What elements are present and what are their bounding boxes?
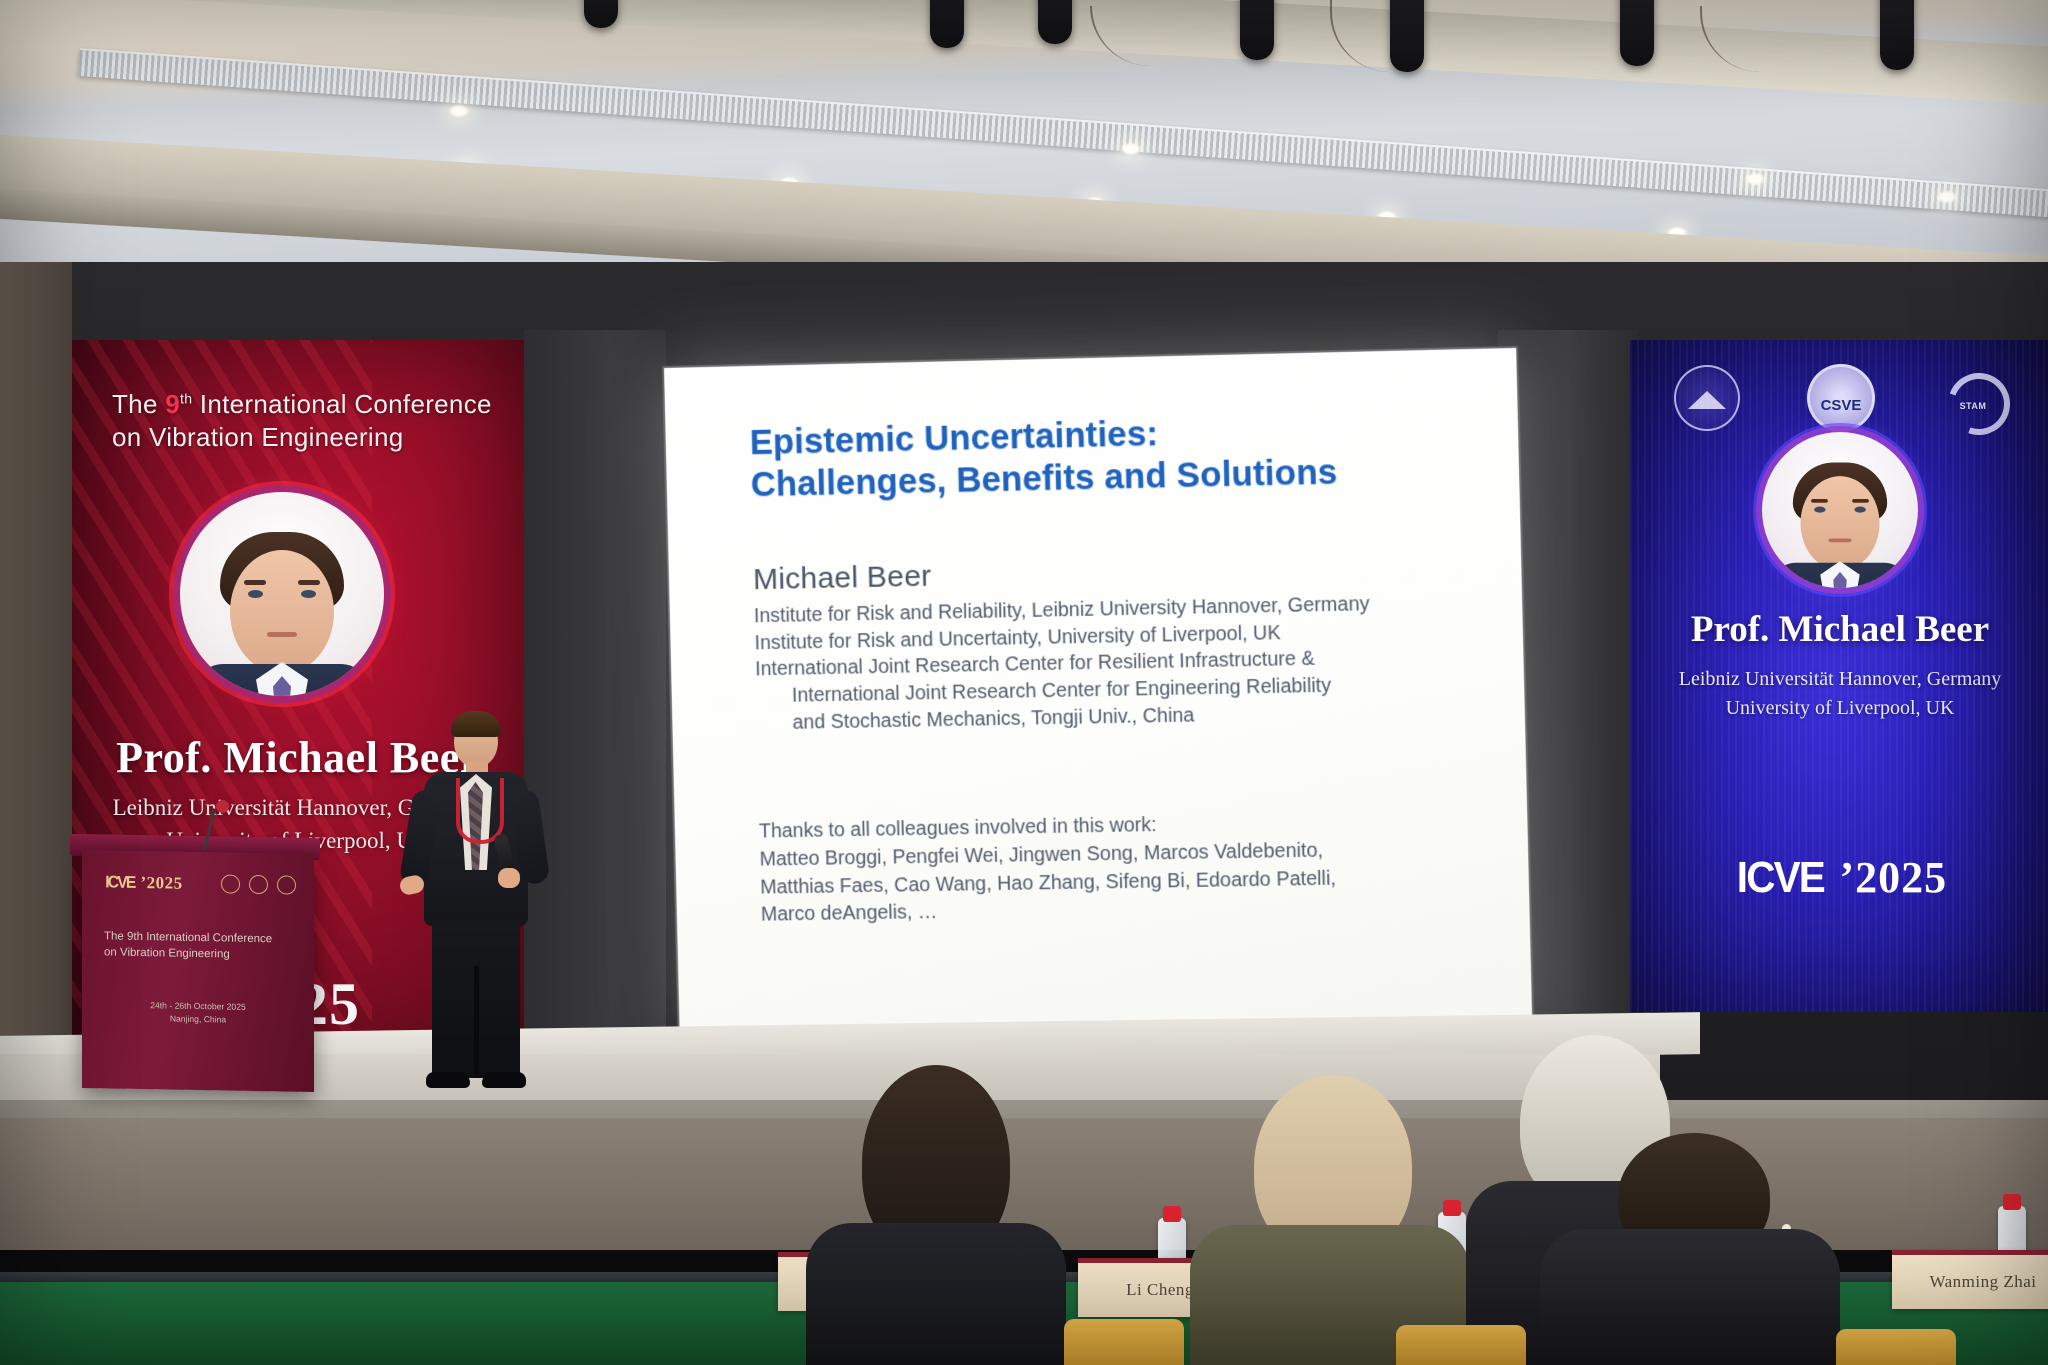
- circle-logo-3-icon: [277, 875, 296, 894]
- hanging-speaker: [930, 0, 964, 48]
- ordinal-suffix: th: [180, 390, 192, 406]
- name-card-right: Wanming Zhai: [1892, 1250, 2048, 1309]
- conference-photo-scene: The 9th International Conference on Vibr…: [0, 0, 2048, 1365]
- university-seal-logo: [1674, 365, 1740, 431]
- speaker-right-hand: [498, 868, 520, 888]
- speaker-shoe-right: [482, 1072, 526, 1088]
- attendee-shoulders: [806, 1223, 1066, 1365]
- right-blue-banner: CSVE STAM Prof. Michael Beer Leibniz Uni…: [1630, 340, 2048, 1012]
- right-banner-affiliation: Leibniz Universität Hannover, Germany Un…: [1630, 665, 2048, 723]
- chair-back: [1836, 1329, 1956, 1365]
- circle-logo-1-icon: [221, 874, 240, 893]
- thanks-line-3: Marco deAngelis, …: [761, 901, 938, 926]
- recessed-downlight: [448, 104, 470, 118]
- speaker-shoe-left: [426, 1072, 470, 1088]
- thanks-line-1: Matteo Broggi, Pengfei Wei, Jingwen Song…: [759, 839, 1323, 870]
- icve-wordmark: ICVE: [105, 872, 134, 893]
- attendee-front-right: [1540, 1133, 1840, 1365]
- attendee-shoulders: [1540, 1229, 1840, 1365]
- podium-conference-name: The 9th International Conference on Vibr…: [104, 928, 294, 964]
- speaker-lanyard: [456, 778, 504, 844]
- attendee-dark-hair: [806, 1065, 1066, 1365]
- podium-date-location: 24th - 26th October 2025 Nanjing, China: [82, 998, 314, 1028]
- recessed-downlight: [1120, 142, 1142, 156]
- sponsor-logo-row: CSVE STAM: [1674, 362, 2004, 434]
- attendee-bald: [1190, 1075, 1470, 1365]
- icve-year: ’2025: [140, 873, 182, 893]
- slide-affiliations: Institute for Risk and Reliability, Leib…: [754, 589, 1478, 737]
- banner-conference-title-line2: on Vibration Engineering: [112, 422, 404, 452]
- slide-acknowledgements: Thanks to all colleagues involved in thi…: [759, 807, 1483, 930]
- projection-screen: Epistemic Uncertainties: Challenges, Ben…: [664, 348, 1533, 1046]
- thanks-heading: Thanks to all colleagues involved in thi…: [759, 814, 1157, 843]
- podium-microphone-head-icon: [216, 800, 229, 813]
- stam-logo: STAM: [1942, 367, 2004, 429]
- podium-event-logo: ICVE ’2025: [104, 872, 183, 893]
- recessed-downlight: [1936, 190, 1958, 204]
- speaker-portrait-right: [1762, 432, 1918, 588]
- chair-back: [1064, 1319, 1184, 1365]
- hanging-speaker: [1038, 0, 1072, 44]
- cable: [1090, 6, 1182, 66]
- ceiling: [0, 0, 2048, 300]
- hanging-speaker: [1620, 0, 1654, 66]
- recessed-downlight: [1744, 172, 1766, 186]
- podium: ICVE ’2025 The 9th International Confere…: [82, 850, 314, 1092]
- slide-title-line2: Challenges, Benefits and Solutions: [750, 454, 1338, 505]
- presentation-slide: Epistemic Uncertainties: Challenges, Ben…: [664, 348, 1533, 1046]
- side-wall-left: [0, 262, 72, 1162]
- podium-logo-icons: [221, 874, 296, 894]
- circle-logo-2-icon: [249, 875, 268, 894]
- slide-title: Epistemic Uncertainties: Challenges, Ben…: [749, 406, 1472, 507]
- hanging-speaker: [1240, 0, 1274, 60]
- icve-wordmark: ICVE: [1737, 853, 1824, 903]
- slide-author-name: Michael Beer: [753, 548, 1475, 597]
- ordinal-number: 9: [165, 389, 180, 419]
- banner-conference-title: The 9th International Conference on Vibr…: [112, 388, 492, 455]
- icve-year: ’2025: [1840, 853, 1948, 902]
- right-banner-speaker-name: Prof. Michael Beer: [1630, 608, 2048, 651]
- speaker-person: [398, 716, 548, 1096]
- hanging-speaker: [1880, 0, 1914, 70]
- chair-back: [1396, 1325, 1526, 1365]
- thanks-line-2: Matthias Faes, Cao Wang, Hao Zhang, Sife…: [760, 867, 1336, 898]
- speaker-portrait-left: [180, 492, 384, 696]
- csve-logo: CSVE: [1807, 364, 1875, 432]
- right-banner-event-logo: ICVE ’2025: [1630, 852, 2048, 903]
